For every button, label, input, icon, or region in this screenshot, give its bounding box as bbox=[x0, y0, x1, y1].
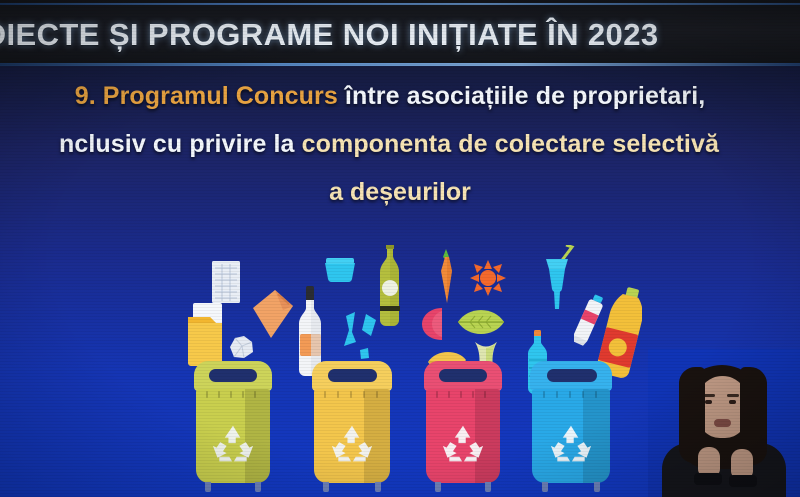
plastic-bin bbox=[530, 361, 612, 483]
plastic-bin-slot bbox=[547, 369, 597, 382]
carrot-item bbox=[434, 249, 458, 310]
paper-bin-leg-left bbox=[205, 482, 211, 492]
paper-bin bbox=[194, 361, 272, 483]
slide-line-1-number: 9. bbox=[75, 82, 96, 110]
interpreter-cuff-left bbox=[694, 473, 722, 485]
slide-line-1-orange: Programul Concurs bbox=[96, 82, 338, 110]
organic-bin bbox=[424, 361, 502, 483]
header-top-rule bbox=[0, 3, 800, 5]
header-band: OIECTE ȘI PROGRAME NOI INIȚIATE ÎN 2023 bbox=[0, 0, 800, 66]
glass-bin-slot bbox=[328, 369, 377, 382]
slide-line-2-cream: componenta de colectare selectivă bbox=[302, 130, 719, 158]
interpreter-eye-right bbox=[729, 400, 736, 404]
interpreter-cuff-right bbox=[729, 475, 757, 487]
sign-language-interpreter bbox=[648, 349, 800, 497]
orange-flower-item bbox=[470, 260, 506, 301]
glass-bin bbox=[312, 361, 392, 483]
organic-bin-recycling-icon bbox=[441, 423, 485, 470]
broadcast-screen: OIECTE ȘI PROGRAME NOI INIȚIATE ÎN 2023 … bbox=[0, 0, 800, 497]
interpreter-eye-left bbox=[705, 400, 712, 404]
glass-bin-recycling-icon bbox=[330, 423, 374, 470]
slide-line-1-white: între asociațiile de proprietari, bbox=[338, 82, 705, 110]
organic-bin-slot bbox=[439, 369, 487, 382]
plastic-bin-leg-right bbox=[594, 482, 600, 492]
plastic-cup-straw-item bbox=[538, 245, 578, 316]
plastic-bin-leg-left bbox=[542, 482, 548, 492]
paper-bin-recycling-icon bbox=[211, 423, 255, 470]
plastic-bin-recycling-icon bbox=[549, 423, 593, 470]
interpreter-mouth bbox=[714, 419, 731, 427]
glass-bin-leg-right bbox=[375, 482, 381, 492]
organic-bin-leg-left bbox=[435, 482, 441, 492]
paper-bin-slot bbox=[209, 369, 257, 382]
organic-bin-leg-right bbox=[485, 482, 491, 492]
paper-bin-leg-right bbox=[255, 482, 261, 492]
slide-line-1: 9. Programul Concurs între asociațiile d… bbox=[0, 72, 800, 120]
interpreter-eyebrow-right bbox=[727, 394, 739, 397]
green-leaf-item bbox=[456, 306, 506, 343]
slide-line-3-cream: a deșeurilor bbox=[329, 178, 471, 206]
header-bottom-rule bbox=[0, 63, 800, 66]
blue-jar-item bbox=[323, 255, 357, 288]
slide-line-2: nclusiv cu privire la componenta de cole… bbox=[0, 120, 800, 168]
apple-half-item bbox=[420, 306, 452, 347]
slide-line-3: a deșeurilor bbox=[0, 168, 800, 216]
slide-line-2-white: nclusiv cu privire la bbox=[59, 130, 302, 158]
slide-text-block: 9. Programul Concurs între asociațiile d… bbox=[0, 72, 800, 216]
glass-bin-leg-left bbox=[323, 482, 329, 492]
header-title: OIECTE ȘI PROGRAME NOI INIȚIATE ÎN 2023 bbox=[0, 17, 800, 53]
